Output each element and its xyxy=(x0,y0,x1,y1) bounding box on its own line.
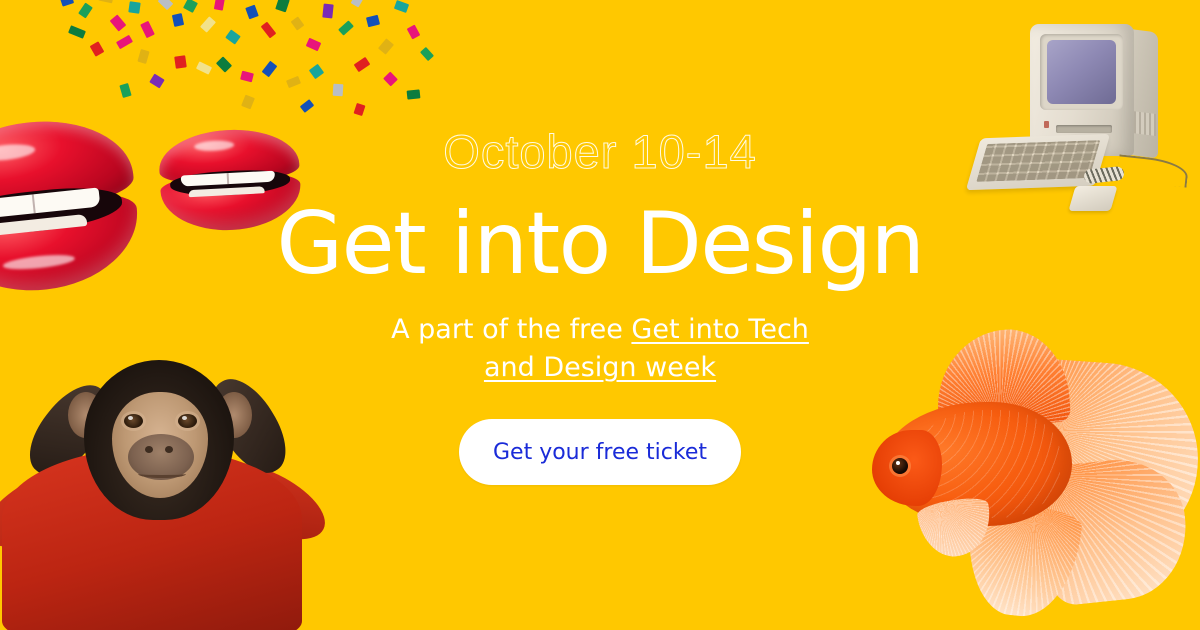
get-free-ticket-button[interactable]: Get your free ticket xyxy=(459,419,741,485)
event-promo-banner: October 10-14 Get into Design A part of … xyxy=(0,0,1200,630)
event-date: October 10-14 xyxy=(443,128,756,175)
event-subtitle: A part of the free Get into Tech and Des… xyxy=(365,311,835,388)
page-title: Get into Design xyxy=(276,201,923,289)
subtitle-prefix: A part of the free xyxy=(391,314,631,345)
banner-content: October 10-14 Get into Design A part of … xyxy=(0,0,1200,630)
